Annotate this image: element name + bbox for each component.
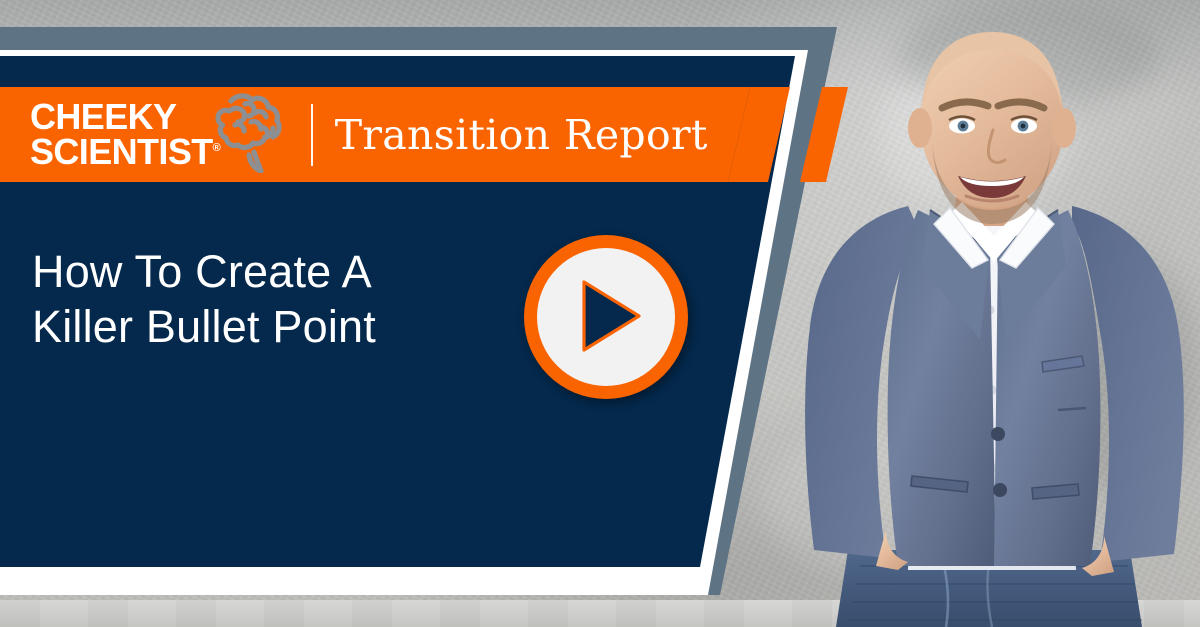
play-button[interactable] <box>524 235 688 399</box>
registered-trademark-icon: ® <box>213 142 221 154</box>
page-title-line-2: Killer Bullet Point <box>32 300 502 355</box>
page-title-line-1: How To Create A <box>32 245 502 300</box>
report-title: Transition Report <box>335 111 708 159</box>
header-divider <box>311 104 313 166</box>
brand-header-content: CHEEKY SCIENTIST® <box>0 87 708 182</box>
logo-wordmark: CHEEKY SCIENTIST® <box>30 100 221 169</box>
brand-header-bar: CHEEKY SCIENTIST® <box>0 87 750 182</box>
banner-canvas: CHEEKY SCIENTIST® <box>0 0 1200 627</box>
page-title: How To Create A Killer Bullet Point <box>32 245 502 355</box>
logo-line-2: SCIENTIST® <box>30 135 221 170</box>
avatar <box>790 10 1200 627</box>
play-triangle-icon <box>581 279 643 358</box>
cheeky-scientist-logo[interactable]: CHEEKY SCIENTIST® <box>0 91 285 178</box>
logo-line-1: CHEEKY <box>30 100 221 135</box>
